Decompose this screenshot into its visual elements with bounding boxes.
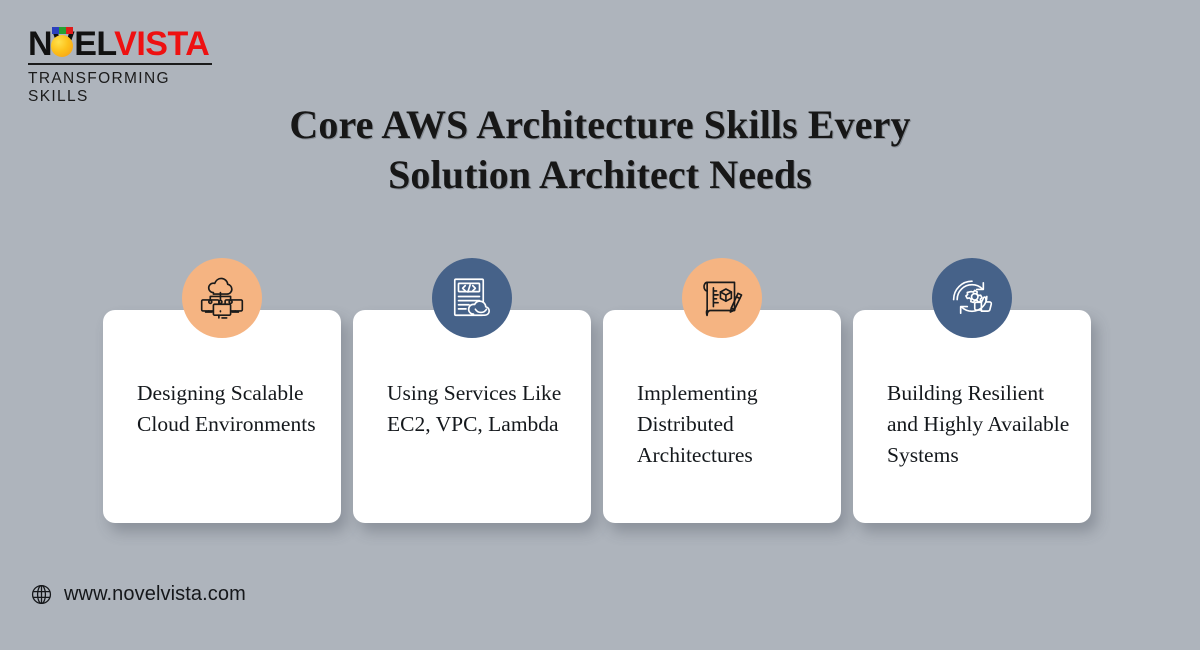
square-red-icon	[66, 27, 73, 34]
gear-refresh-thumbsup-icon	[932, 258, 1012, 338]
skills-card-row: Designing Scalable Cloud Environments Us…	[103, 258, 1097, 523]
square-green-icon	[59, 27, 66, 34]
skill-card[interactable]: Designing Scalable Cloud Environments	[103, 258, 341, 523]
card-label: Implementing Distributed Architectures	[637, 378, 827, 471]
logo-letter-n: N	[28, 25, 52, 63]
globe-icon	[30, 583, 53, 606]
circle-dot-icon	[51, 35, 73, 57]
card-label: Building Resilient and Highly Available …	[887, 378, 1077, 471]
logo-text-vista: VISTA	[114, 25, 209, 63]
skill-card[interactable]: Using Services Like EC2, VPC, Lambda	[353, 258, 591, 523]
card-label: Designing Scalable Cloud Environments	[137, 378, 327, 440]
page-title-line-2: Solution Architect Needs	[0, 150, 1200, 200]
square-blue-icon	[52, 27, 59, 34]
page-title: Core AWS Architecture Skills Every Solut…	[0, 100, 1200, 200]
skill-card[interactable]: Building Resilient and Highly Available …	[853, 258, 1091, 523]
color-squares-icon	[52, 27, 73, 34]
code-document-cloud-icon	[432, 258, 512, 338]
cloud-computers-icon	[182, 258, 262, 338]
skill-card[interactable]: Implementing Distributed Architectures	[603, 258, 841, 523]
site-url-text: www.novelvista.com	[64, 583, 246, 606]
site-footer[interactable]: www.novelvista.com	[30, 583, 246, 606]
page-title-line-1: Core AWS Architecture Skills Every	[0, 100, 1200, 150]
blueprint-cube-pencil-icon	[682, 258, 762, 338]
brand-logo[interactable]: NVELVISTA TRANSFORMING SKILLS	[28, 26, 212, 106]
logo-divider	[28, 63, 212, 65]
card-label: Using Services Like EC2, VPC, Lambda	[387, 378, 577, 440]
logo-wordmark: NVELVISTA	[28, 26, 212, 62]
